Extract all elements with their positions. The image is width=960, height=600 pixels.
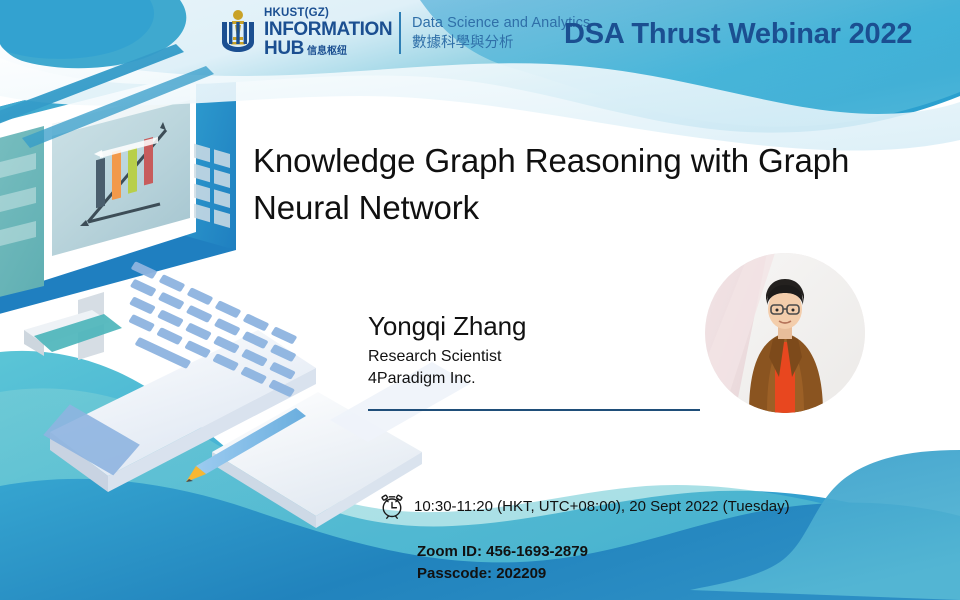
avatar bbox=[705, 253, 865, 413]
hkust-book-torch-emblem bbox=[218, 8, 258, 58]
webinar-poster: HKUST(GZ) INFORMATION HUB 信息枢纽 Data Scie… bbox=[0, 0, 960, 600]
alarm-clock-icon bbox=[378, 492, 406, 520]
schedule-datetime: 10:30-11:20 (HKT, UTC+08:00), 20 Sept 20… bbox=[414, 498, 790, 515]
page-title: Knowledge Graph Reasoning with Graph Neu… bbox=[253, 138, 933, 232]
speaker-role: Research Scientist bbox=[368, 346, 698, 369]
speaker-name: Yongqi Zhang bbox=[368, 310, 698, 343]
speaker-info: Yongqi Zhang Research Scientist 4Paradig… bbox=[368, 310, 698, 391]
schedule-row: 10:30-11:20 (HKT, UTC+08:00), 20 Sept 20… bbox=[378, 492, 790, 520]
zoom-passcode: Passcode: 202209 bbox=[417, 563, 588, 585]
logo-line-hkust-gz: HKUST(GZ) bbox=[264, 8, 392, 20]
logo-line-hub: HUB bbox=[264, 39, 304, 58]
speaker-photo bbox=[705, 253, 865, 413]
hkust-gz-information-hub-logo: HKUST(GZ) INFORMATION HUB 信息枢纽 bbox=[218, 4, 398, 62]
zoom-id: Zoom ID: 456-1693-2879 bbox=[417, 541, 588, 563]
logo-line-hub-chinese: 信息枢纽 bbox=[307, 47, 347, 57]
vertical-divider bbox=[399, 12, 401, 54]
speaker-organization: 4Paradigm Inc. bbox=[368, 368, 698, 391]
banner-title: DSA Thrust Webinar 2022 bbox=[564, 12, 960, 56]
thrust-name-block: Data Science and Analytics 數據科學與分析 bbox=[399, 10, 590, 56]
logo-line-information: INFORMATION bbox=[264, 20, 392, 39]
meeting-info: Zoom ID: 456-1693-2879 Passcode: 202209 bbox=[417, 541, 588, 585]
speaker-divider-rule bbox=[368, 409, 700, 411]
